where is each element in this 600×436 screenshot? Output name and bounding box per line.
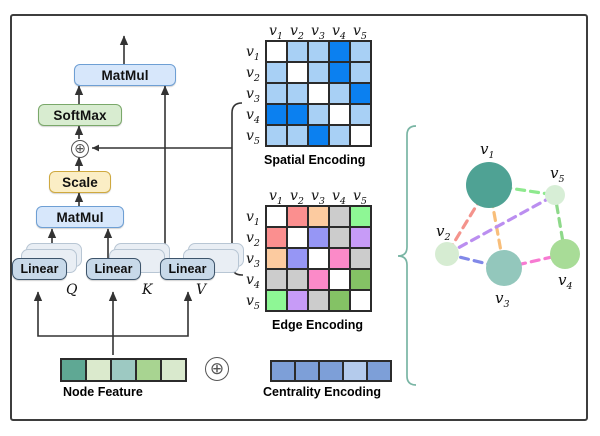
matrix-cell [329, 269, 350, 290]
matrix-cell [287, 290, 308, 311]
bar-cell [86, 359, 111, 381]
label-q: Q [66, 282, 77, 298]
matrix-cell [350, 62, 371, 83]
matrix-col-label: v5 [353, 22, 367, 42]
matrix-cell [266, 125, 287, 146]
matrix-col-label: v1 [269, 22, 283, 42]
matrix-col-label: v4 [332, 187, 346, 207]
matrix-row-label: v3 [246, 85, 260, 105]
matrix-cell [266, 269, 287, 290]
graph-node-label-v2: v2 [436, 222, 451, 243]
matrix-col-label: v1 [269, 187, 283, 207]
graph-node-label-v5: v5 [550, 164, 565, 185]
matrix-row-label: v3 [246, 250, 260, 270]
matrix-cell [329, 227, 350, 248]
matrix-col-label: v3 [311, 187, 325, 207]
matrix-cell [350, 125, 371, 146]
matrix-cell [329, 104, 350, 125]
matrix-cell [266, 41, 287, 62]
bar-cell [367, 361, 391, 381]
matrix-cell [287, 41, 308, 62]
matrix-cell [287, 83, 308, 104]
matrix-cell [287, 248, 308, 269]
matrix-cell [287, 62, 308, 83]
matrix-cell [308, 125, 329, 146]
label-k: K [142, 282, 152, 298]
matrix-cell [287, 227, 308, 248]
edge-encoding-matrix [265, 205, 372, 312]
matrix-cell [329, 41, 350, 62]
graph-node-v4[interactable] [550, 239, 580, 269]
add-feature-icon: ⊕ [205, 357, 229, 381]
block-scale[interactable]: Scale [49, 171, 111, 193]
matrix-cell [266, 206, 287, 227]
spatial-encoding-caption: Spatial Encoding [264, 153, 365, 167]
matrix-col-label: v3 [311, 22, 325, 42]
matrix-cell [350, 290, 371, 311]
matrix-row-label: v4 [246, 106, 260, 126]
graph-node-label-v4: v4 [558, 271, 573, 292]
block-matmul-top[interactable]: MatMul [74, 64, 176, 86]
matrix-cell [308, 104, 329, 125]
matrix-col-label: v5 [353, 187, 367, 207]
matrix-cell [308, 248, 329, 269]
matrix-cell [350, 83, 371, 104]
graph-node-label-v3: v3 [495, 289, 510, 310]
block-linear-v[interactable]: Linear [160, 258, 215, 280]
matrix-row-label: v2 [246, 64, 260, 84]
matrix-cell [350, 206, 371, 227]
plus-glyph: ⊕ [74, 142, 86, 156]
matrix-cell [350, 269, 371, 290]
matrix-cell [287, 206, 308, 227]
matrix-col-label: v2 [290, 22, 304, 42]
matrix-cell [329, 125, 350, 146]
matrix-cell [329, 62, 350, 83]
matrix-row-label: v4 [246, 271, 260, 291]
bar-cell [343, 361, 367, 381]
matrix-cell [266, 62, 287, 83]
graph-node-v2[interactable] [435, 242, 459, 266]
block-matmul-bottom[interactable]: MatMul [36, 206, 124, 228]
bar-cell [295, 361, 319, 381]
matrix-cell [308, 206, 329, 227]
spatial-encoding-matrix [265, 40, 372, 147]
block-label: SoftMax [53, 108, 106, 123]
matrix-cell [287, 125, 308, 146]
block-label: Scale [62, 175, 98, 190]
node-feature-caption: Node Feature [63, 385, 143, 399]
matrix-cell [329, 206, 350, 227]
matrix-row-label: v5 [246, 292, 260, 312]
matrix-cell [350, 104, 371, 125]
matrix-cell [329, 248, 350, 269]
node-feature-bar [60, 358, 187, 382]
matrix-row-label: v1 [246, 208, 260, 228]
label-v: V [196, 282, 206, 298]
matrix-col-label: v4 [332, 22, 346, 42]
matrix-cell [308, 227, 329, 248]
matrix-cell [308, 269, 329, 290]
block-softmax[interactable]: SoftMax [38, 104, 122, 126]
matrix-col-label: v2 [290, 187, 304, 207]
matrix-cell [266, 104, 287, 125]
matrix-row-label: v1 [246, 43, 260, 63]
graph-node-v1[interactable] [466, 162, 512, 208]
block-label: MatMul [56, 210, 103, 225]
block-label: Linear [168, 262, 206, 276]
bar-cell [136, 359, 161, 381]
matrix-row-label: v2 [246, 229, 260, 249]
centrality-encoding-caption: Centrality Encoding [263, 385, 381, 399]
matrix-cell [308, 290, 329, 311]
block-label: Linear [20, 262, 58, 276]
block-linear-k[interactable]: Linear [86, 258, 141, 280]
matrix-cell [308, 41, 329, 62]
block-label: Linear [94, 262, 132, 276]
matrix-cell [308, 83, 329, 104]
bar-cell [271, 361, 295, 381]
matrix-cell [308, 62, 329, 83]
edge-encoding-caption: Edge Encoding [272, 318, 363, 332]
add-attention-bias-icon: ⊕ [71, 140, 89, 158]
matrix-row-label: v5 [246, 127, 260, 147]
matrix-cell [350, 248, 371, 269]
bar-cell [61, 359, 86, 381]
matrix-cell [287, 269, 308, 290]
matrix-cell [266, 290, 287, 311]
block-label: MatMul [101, 68, 148, 83]
plus-glyph: ⊕ [210, 361, 224, 378]
bar-cell [319, 361, 343, 381]
graph-node-label-v1: v1 [480, 140, 495, 161]
graph-node-v3[interactable] [486, 250, 522, 286]
block-linear-q[interactable]: Linear [12, 258, 67, 280]
matrix-cell [287, 104, 308, 125]
matrix-cell [266, 248, 287, 269]
matrix-cell [329, 290, 350, 311]
graph-node-v5[interactable] [545, 185, 565, 205]
figure-canvas: MatMul SoftMax ⊕ Scale MatMul Linear Lin… [0, 0, 600, 436]
bar-cell [161, 359, 186, 381]
matrix-cell [329, 83, 350, 104]
matrix-cell [266, 83, 287, 104]
matrix-cell [350, 41, 371, 62]
centrality-encoding-bar [270, 360, 392, 382]
bar-cell [111, 359, 136, 381]
matrix-cell [266, 227, 287, 248]
matrix-cell [350, 227, 371, 248]
